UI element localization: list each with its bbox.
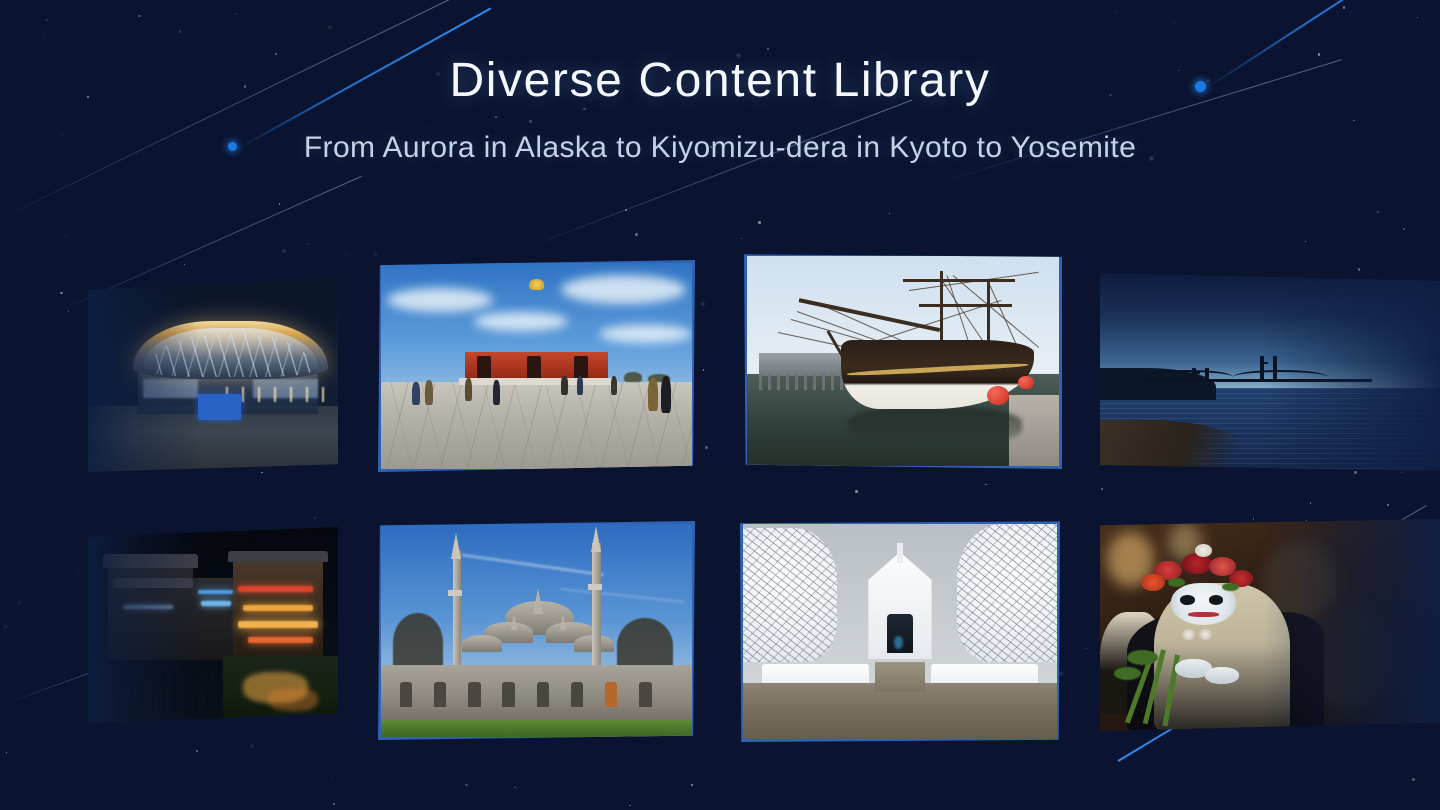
tile-frame <box>1100 273 1440 471</box>
tile-frame <box>740 521 1060 742</box>
meteor-streak-1 <box>0 0 466 229</box>
tile-frame <box>378 521 695 740</box>
tile-artwork-tall-ship <box>747 256 1059 466</box>
tile-frame <box>88 278 338 472</box>
gallery-tile-white-temple[interactable] <box>740 521 1060 742</box>
gallery-tile-tall-ship[interactable] <box>744 253 1062 469</box>
gallery-tile-riverside-town[interactable] <box>88 527 338 723</box>
tile-frame <box>88 527 338 723</box>
gallery-tile-day-of-the-dead[interactable] <box>1100 519 1440 731</box>
tile-artwork-white-temple <box>743 524 1057 739</box>
page-title: Diverse Content Library <box>0 53 1440 108</box>
tile-frame <box>1100 519 1440 731</box>
gallery-tile-temple-of-heaven[interactable] <box>378 260 695 472</box>
meteor-streak-3 <box>520 100 912 251</box>
tile-artwork-night-pavilion <box>88 278 338 472</box>
gallery-tile-blue-mosque[interactable] <box>378 521 695 740</box>
gallery-tile-golden-gate[interactable] <box>1100 273 1440 471</box>
tile-artwork-temple-of-heaven <box>381 263 692 469</box>
page-subtitle: From Aurora in Alaska to Kiyomizu-dera i… <box>0 131 1440 165</box>
tile-artwork-blue-mosque <box>381 524 692 737</box>
tile-artwork-day-of-the-dead <box>1100 519 1440 731</box>
slide-canvas: Diverse Content Library From Aurora in A… <box>0 0 1440 810</box>
tile-artwork-golden-gate <box>1100 273 1440 471</box>
tile-artwork-riverside-town <box>88 527 338 723</box>
tile-frame <box>378 260 695 472</box>
gallery-tile-night-pavilion[interactable] <box>88 278 338 472</box>
tile-frame <box>744 253 1062 469</box>
